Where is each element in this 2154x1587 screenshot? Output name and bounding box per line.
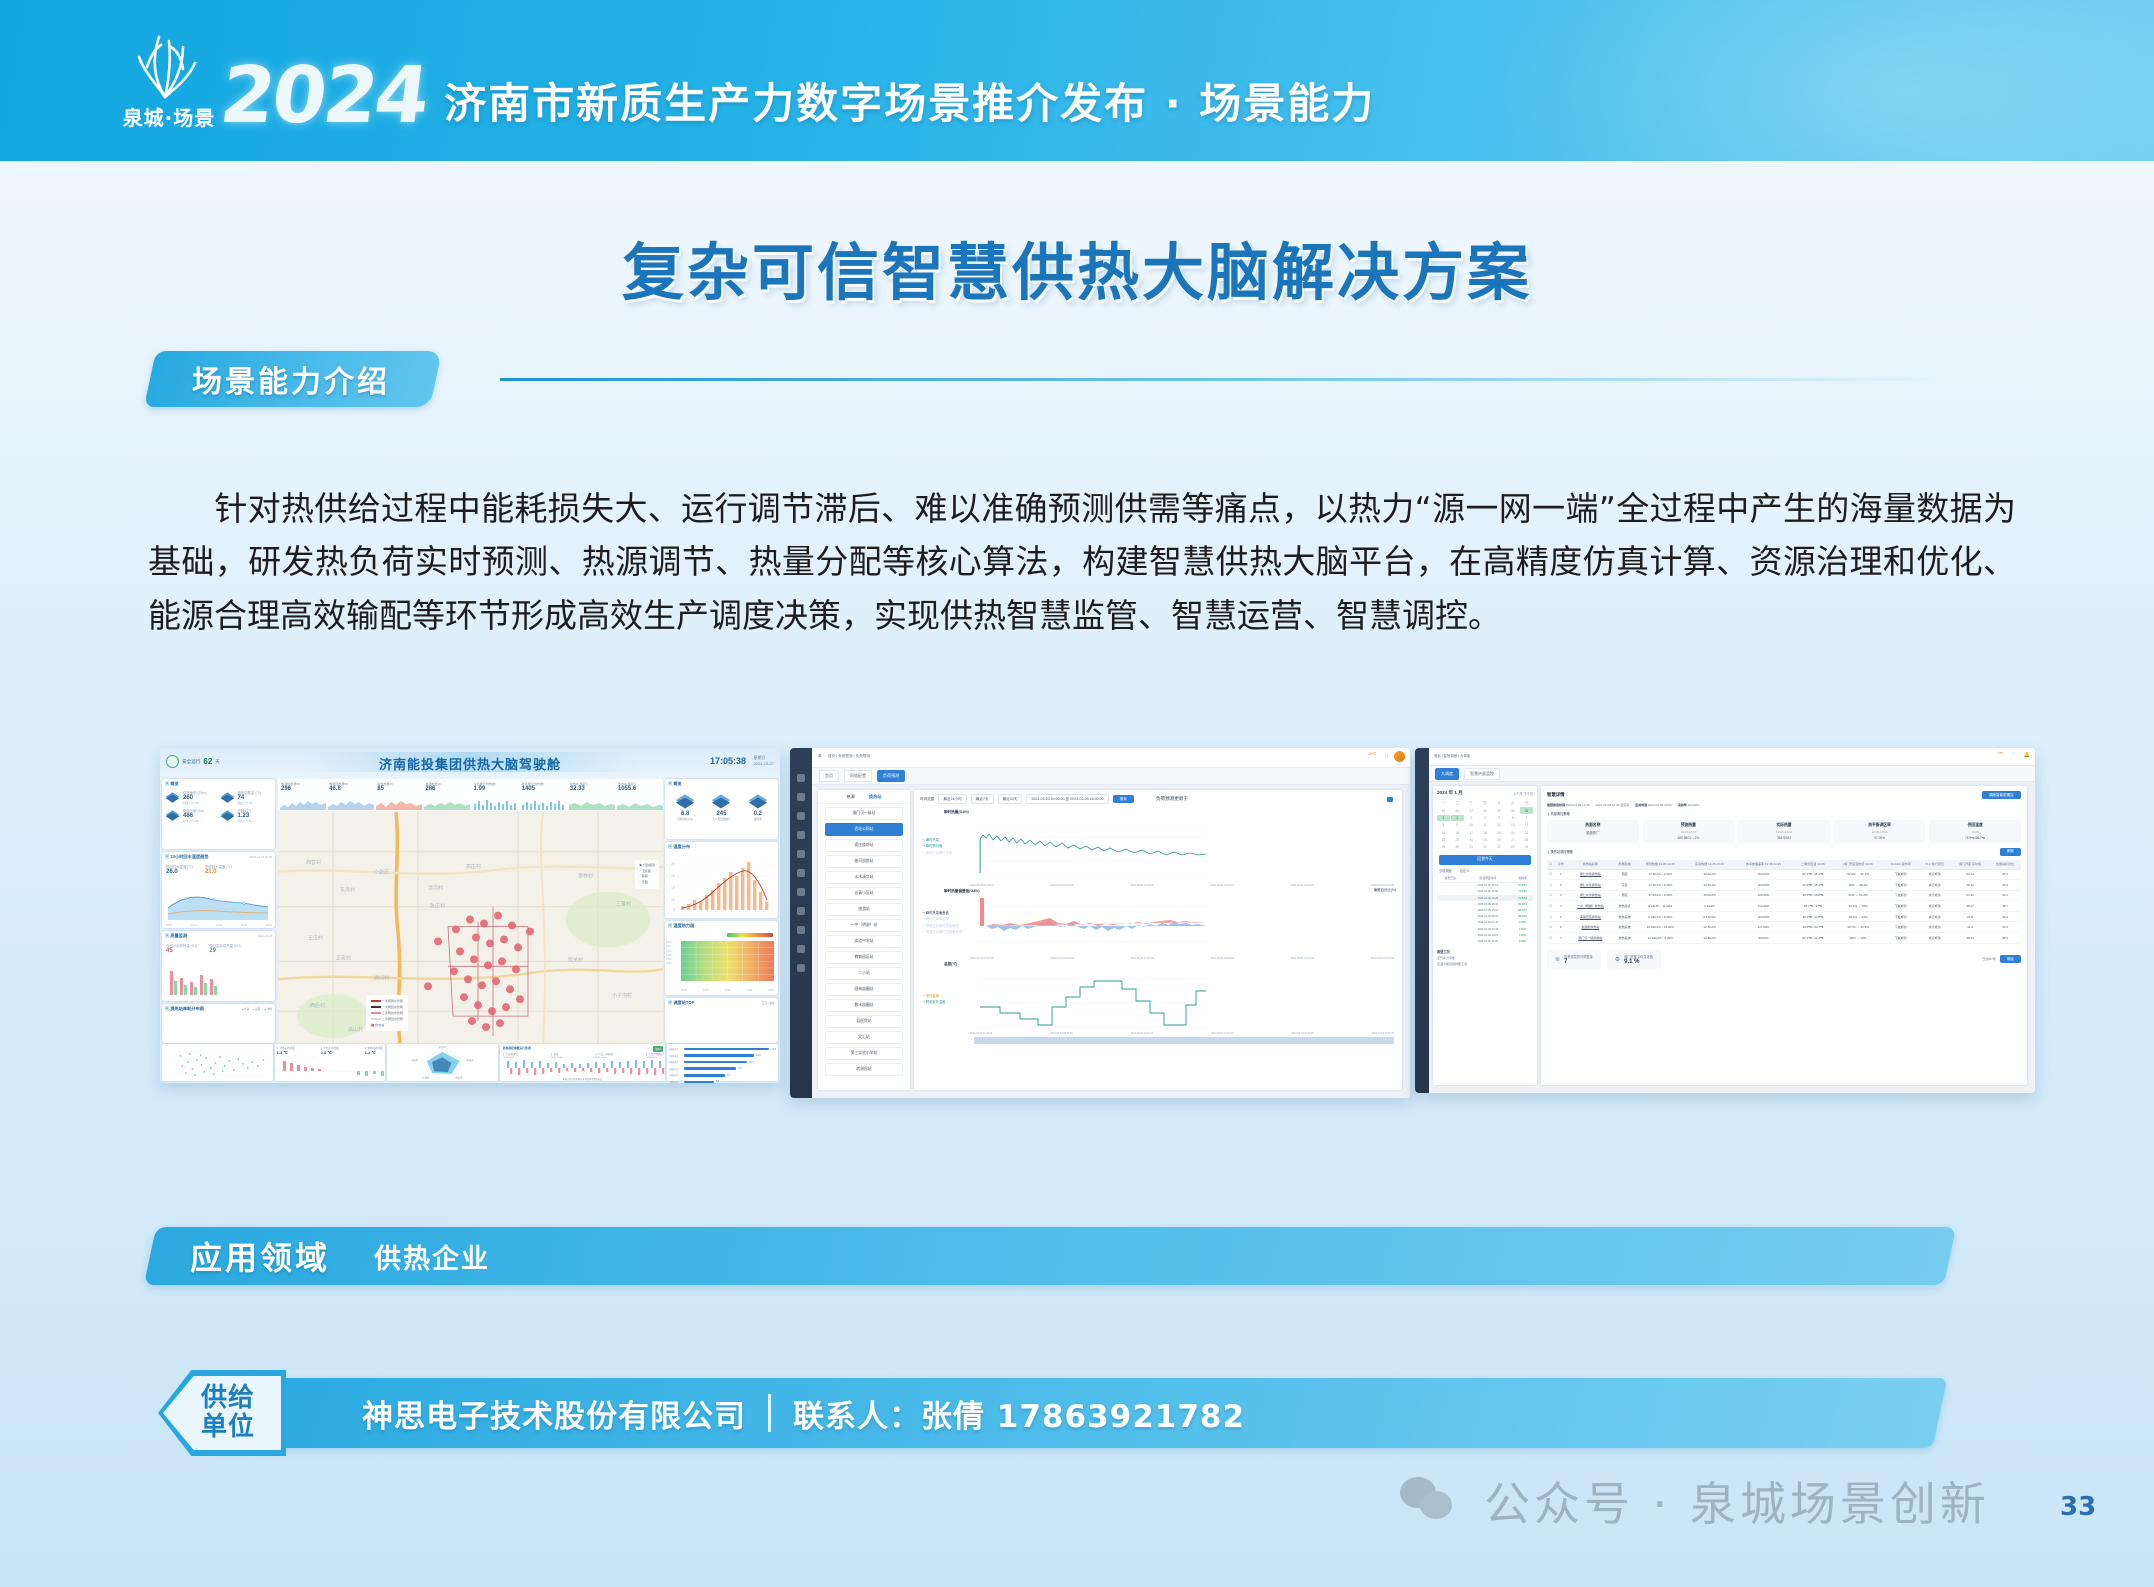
calendar-day[interactable]: 24 [1465, 837, 1478, 843]
svg-text:枣林村: 枣林村 [578, 873, 593, 880]
row-checkbox[interactable]: ☐ [1547, 922, 1554, 933]
fullscreen-icon[interactable]: ⛶ [2012, 752, 2015, 756]
radar-axis-label: 节能率 [411, 1058, 419, 1062]
sidebar-tab-source[interactable]: 热源 [847, 794, 855, 800]
histogram-chart: 252015105 [671, 854, 775, 912]
map-canvas[interactable]: 西营村东风村小张庄 清河村高庄村枣林村 三官村王庄村正安村 通河村张庄村南关村 … [278, 812, 663, 1043]
wechat-icon [1400, 1475, 1462, 1527]
row-checkbox[interactable]: ☐ [1547, 890, 1554, 901]
panel-overview: 概览 供热面积 (万m²) 260 同比上升 12% ↑ 换热站数量 (个) 7… [162, 779, 275, 849]
cell-hbars: 换热站112.0 换热站218.6 换热站318.6 换热站46.5 换热站55… [667, 1044, 778, 1081]
source-card-row: 热源名称 能投热厂 预测热量 13:00-14:00 380.96GJ ↓ 2%… [1547, 820, 2021, 843]
pager[interactable]: ‹ › [1384, 797, 1396, 802]
home-icon[interactable] [797, 774, 805, 782]
calendar-day[interactable]: 02 [1492, 844, 1505, 850]
kpi-value: 32.33 [570, 786, 613, 792]
calendar-day[interactable]: 4 [1479, 815, 1492, 821]
sort-control[interactable]: 正序 / 倒序 [762, 1001, 775, 1005]
sparkline-icon [328, 798, 374, 810]
svg-text:15: 15 [671, 886, 675, 890]
station-sidebar[interactable]: 热源 换热站 顺门汉一级站 西站公网站 索庄楼前站 曲河园前站 水木清华站 长青… [818, 790, 910, 1090]
summary-value: 7 [1564, 959, 1593, 965]
station-item[interactable]: 数水苗圃站 [825, 999, 903, 1012]
tools-title: 典型工况 [1437, 949, 1533, 954]
metric-value: 26.0 [166, 869, 193, 875]
calendar-day[interactable]: 03 [1506, 844, 1519, 850]
confirm-button[interactable]: 确定 [2000, 955, 2021, 963]
calendar-day[interactable]: 14 [1520, 822, 1533, 828]
station-item[interactable]: 教育园区站 [825, 951, 903, 964]
list-icon[interactable] [797, 926, 805, 934]
diamond-icon [220, 790, 235, 805]
calendar-day[interactable]: 15 [1437, 830, 1450, 836]
station-item[interactable]: 实验中学站 [825, 935, 903, 948]
summary-label: 阀门开度平均变化值 [1624, 954, 1653, 959]
screenshot-heating-brain-cockpit[interactable]: 济南能投集团供热大脑驾驶舱 安全运行 62 天 17:05:38 星期日 202… [160, 748, 780, 1083]
metric-item: 今日计划供热量 (GJ) 45 [166, 943, 197, 954]
sparkline-icon [424, 798, 470, 810]
kpi-value: 1405 [522, 786, 565, 792]
apply-field-section: 应用领域 供热企业 [150, 1227, 1950, 1291]
chart3-step-line [970, 969, 1210, 1031]
metric-item: ❙ 中位平均温度2.8 ℃ [321, 1046, 339, 1055]
legend-item: ● 居民 [253, 1007, 260, 1011]
calendar-day[interactable]: 20 [1506, 830, 1519, 836]
kpi-value: 1055.6 [618, 786, 661, 792]
calendar-sidebar[interactable]: 2024 年 1 月 上个月 下个月 一 二 三 四 五 六 日 2526 27… [1433, 786, 1537, 1085]
calendar-day[interactable]: 19 [1492, 830, 1505, 836]
kpi-value: 296 [281, 786, 324, 792]
cockpit-bottom-row: ❙ 室外平均温度1.3 ℃ ❙ 中位平均温度2.8 ℃ ❙ 末端平均温度1.2 … [162, 1044, 778, 1081]
calendar-day-highlight[interactable]: 31 [1520, 807, 1533, 813]
calendar-day[interactable]: 25 [1479, 837, 1492, 843]
calendar-day[interactable]: 11 [1479, 822, 1492, 828]
metric-delta: 同比上升 10% ↑ [183, 819, 204, 823]
panel-title: 概览 [165, 781, 179, 787]
radar-axis-label: 调度率 [455, 1076, 463, 1080]
legend: ▮ 热负荷实际需热量 ▮ 热负荷预测需热量 [500, 1077, 666, 1081]
svg-text:通河村: 通河村 [374, 974, 389, 981]
diamond-icon [748, 792, 768, 810]
list-item[interactable]: ○2024-01-09 13:003.00% [1437, 938, 1533, 944]
topbar: ☰ 首页 / 负荷预测 / 负荷预测 16℃ ⛶ [812, 748, 1410, 768]
hbar-row: 换热站318.6 [669, 1060, 776, 1064]
weekday: 一 [1437, 799, 1450, 806]
metric-item: 供热面积 (万m²) 260 同比上升 12% ↑ [165, 790, 218, 805]
tab-dispatch[interactable]: 大调度 [1435, 768, 1459, 780]
cockpit-clock: 17:05:38 [710, 756, 746, 766]
col-checkbox[interactable]: ☑ [1547, 860, 1554, 870]
x-tick: 00:00 [166, 924, 172, 927]
table-row[interactable]: ☐ 5 美丽宏苑换热站 换热系统 6.24GJ/h ↓ 5.00% 6.57GJ… [1547, 911, 2021, 922]
clock-icon[interactable] [797, 869, 805, 877]
kpi-value: 85 [377, 786, 420, 792]
calendar-day[interactable]: 29 [1492, 807, 1505, 813]
fullscreen-icon[interactable]: ⛶ [1385, 753, 1388, 758]
section-header: 场景能力介绍 [150, 351, 2050, 407]
screenshot-load-forecast-console[interactable]: ☰ 首页 / 负荷预测 / 负荷预测 16℃ ⛶ 首页 网络配置 负荷预测 热源… [790, 748, 1410, 1098]
icon-rail[interactable] [790, 748, 812, 1098]
supplier-section: 供给 单位 神思电子技术股份有限公司 联系人：张倩 17863921782 [150, 1370, 1950, 1456]
radar-axis-label: 合格率 [422, 1076, 430, 1080]
panel-date: 2024-10-27 16:00 [250, 855, 272, 859]
grid-icon[interactable] [797, 850, 805, 858]
alert-icon[interactable] [797, 888, 805, 896]
table-row[interactable]: ☐ 3 顺仁水务换热站 南区 17.6GJ/h ↓ 2.00% 16.0GJ/h… [1547, 890, 2021, 901]
station-item[interactable]: 园林苗圃站 [825, 983, 903, 996]
page-title: 复杂可信智慧供热大脑解决方案 [0, 222, 2154, 312]
station-item[interactable]: 县医院站 [825, 1015, 903, 1028]
legend-item[interactable]: ⊸ 预测日前瞬时热量偏差率 [922, 929, 962, 935]
card-value: 76.9℃/56.7℃ [1931, 836, 2019, 840]
calendar-day[interactable]: 5 [1492, 815, 1505, 821]
search-button[interactable]: 搜索 [1113, 795, 1134, 803]
metric-label: 故障率 [748, 817, 768, 821]
hbar-row: 换热站55.2 [669, 1073, 776, 1077]
dispatch-table[interactable]: ☑ 序号 换热站名称 所属区域 预测热量 13:45-14:45 实际热量 12… [1547, 860, 2021, 944]
avatar[interactable] [1394, 751, 1405, 762]
source-card: 热平衡调区率 12:00-13:00 97.00% [1834, 820, 1926, 843]
legend-item[interactable]: ⊸ 预测室外温度 [922, 999, 945, 1005]
dispatch-detail-main: 智慧详情 调度智能配置区 智慧推送时刻 2024-01-09 13:45 202… [1541, 786, 2027, 1085]
calendar-day[interactable]: 16 [1451, 830, 1464, 836]
col-balance: 热平衡偏差率 12:45-13:45 [1734, 860, 1793, 870]
metric-label: 万人报警数统计 [711, 817, 731, 821]
menu-icon[interactable]: ☰ [818, 753, 822, 758]
station-link[interactable]: 顺仁水务换热站 [1567, 890, 1613, 901]
calendar-day-highlight[interactable]: 2 [1451, 815, 1464, 821]
chart-scrollbar[interactable] [974, 1037, 1394, 1044]
meta-item: 采纳率 100.00% [1678, 803, 1700, 807]
tab-home[interactable]: 首页 [819, 770, 839, 782]
row-checkbox[interactable]: ☐ [1547, 880, 1554, 891]
bell-icon[interactable]: 🔔 [2024, 752, 2030, 758]
metric-delta: 同比上升 12% ↑ [183, 801, 207, 805]
chart-icon[interactable] [797, 793, 805, 801]
supplier-badge-line1: 供给 [189, 1384, 255, 1413]
calendar-day[interactable]: 29 [1437, 844, 1450, 850]
calendar-day[interactable]: 21 [1520, 830, 1533, 836]
layer-option[interactable]: ○ 无图 [639, 880, 655, 886]
summary-box: ≋ 智慧调控的可调整量 7 [1547, 950, 1601, 969]
cockpit-safety-badge: 安全运行 62 天 [166, 755, 220, 768]
calendar-day[interactable]: 31 [1465, 844, 1478, 850]
legend-item[interactable]: ⊸ 预测日前瞬时热量偏差 [922, 923, 962, 929]
card-title: 实际热量 [1740, 823, 1828, 828]
metric-value: 29 [209, 948, 240, 954]
source-card: 预测热量 13:00-14:00 380.96GJ ↓ 2% [1643, 820, 1735, 843]
station-item[interactable]: 长青小区站 [825, 887, 903, 900]
station-item[interactable]: 旅游站 [825, 903, 903, 916]
summary-value: 9.1 % [1624, 959, 1653, 965]
panel-overview-right: 概览 6.8 供热能耗对标 245 万人报警数统计 [665, 779, 778, 839]
range-label: 时间范围 [920, 797, 934, 802]
svg-text:三官村: 三官村 [616, 901, 631, 908]
meta-item: 智慧推送时刻 2024-01-09 13:45 [1547, 803, 1590, 807]
hbar-row: 换热站218.6 [669, 1054, 776, 1058]
calendar-day[interactable]: 28 [1479, 807, 1492, 813]
panel-date: 2024-10-27 [258, 934, 272, 938]
filter-toolbar[interactable]: 时间范围 最近24小时 最近7天 最近30天 2024-03-03 00:00:… [914, 790, 1402, 808]
panel-temp-distribution: 温度分布 [665, 842, 778, 918]
source-section-title: ❙ 热源调控策略 [1547, 811, 2021, 816]
col-perf: 性能指标对比 [1989, 860, 2021, 870]
col-pred: 预测热量 13:45-14:45 [1636, 860, 1685, 870]
chart1-legend[interactable]: ⊸ 瞬时热量 ⊸ 瞬时预测值 ⊸ 预测日前瞬时热量 [922, 837, 952, 856]
kpi-card: 回水水温度℃ 1055.6 [615, 779, 663, 811]
card-sub: 12:00-13:00 [1740, 830, 1828, 834]
cell-temp-bars: ❙ 室外平均温度1.3 ℃ ❙ 中位平均温度2.8 ℃ ❙ 末端平均温度1.2 … [275, 1044, 386, 1081]
weekday: 二 [1451, 799, 1464, 806]
svg-text:10: 10 [671, 898, 675, 902]
today-button[interactable]: 回到今天 [1439, 855, 1531, 865]
card-value: 97.00% [1836, 836, 1924, 840]
sparkline-icon [376, 798, 422, 810]
map-layer-switcher[interactable]: ◉ 行政图层 ○ 卫星图 ○ 路网 ○ 无图 [635, 860, 659, 889]
gear-icon[interactable] [797, 907, 805, 915]
breadcrumb: 首页 / 负荷预测 / 负荷预测 [828, 754, 870, 759]
weekday: 六 [1506, 799, 1519, 806]
calendar-nav[interactable]: 上个月 下个月 [1513, 791, 1533, 796]
cockpit-date-value: 2024-10-27 [754, 761, 774, 767]
svg-text:小子沟村: 小子沟村 [612, 992, 632, 999]
metric-label: 供热能耗对标 [675, 817, 695, 821]
calendar-day[interactable]: 18 [1479, 830, 1492, 836]
calendar-day[interactable]: 26 [1492, 837, 1505, 843]
row-checkbox[interactable]: ☐ [1547, 869, 1554, 880]
station-item[interactable]: 水木清华站 [825, 871, 903, 884]
weekday: 日 [1520, 799, 1533, 806]
icon-rail[interactable] [1415, 748, 1429, 1093]
kpi-card: 今日累计供热量t 1.99 [471, 779, 519, 811]
card-title: 预测热量 [1645, 823, 1733, 828]
svg-text:西后村: 西后村 [310, 1002, 325, 1009]
cockpit-date: 星期日 2024-10-27 [754, 755, 774, 766]
calendar-day[interactable]: 25 [1437, 807, 1450, 813]
tab-bar[interactable]: 首页 网络配置 负荷预测 [812, 768, 1410, 785]
col-station: 换热站名称 [1567, 860, 1613, 870]
table-row[interactable]: ☐ 4 一中（明湖）换热站 换热总表 6.2GJ/h ↓ 11.00% 5.1G… [1547, 901, 2021, 912]
station-link[interactable]: 顺仁水务换热站 [1567, 880, 1613, 891]
diamond-icon [165, 808, 180, 823]
search-icon[interactable] [797, 831, 805, 839]
svg-text:张庄村: 张庄村 [430, 903, 445, 910]
metric-item: 户数 (万) 1.23 同比上升 2% ↑ [220, 808, 273, 823]
calendar-day[interactable]: 30 [1506, 807, 1519, 813]
paragraph-text: 针对热供给过程中能耗损失大、运行调节滞后、难以准确预测供需等痛点，以热力“源一网… [148, 489, 2016, 635]
chart2-deviation [970, 896, 1210, 950]
calendar-header: 2024 年 1 月 上个月 下个月 [1437, 790, 1533, 796]
card-title: 热平衡调区率 [1836, 823, 1924, 828]
station-link[interactable]: 一中（明湖）换热站 [1567, 901, 1613, 912]
tab-network-config[interactable]: 网络配置 [844, 770, 872, 782]
sidebar-tabs[interactable]: 热源 换热站 [818, 790, 910, 804]
cell-scatter [162, 1044, 273, 1081]
calendar-day[interactable]: 23 [1451, 837, 1464, 843]
valve-icon: ⚙ [1615, 956, 1620, 963]
calendar-day-highlight[interactable]: 1 [1437, 815, 1450, 821]
table-header-row: ☑ 序号 换热站名称 所属区域 预测热量 13:45-14:45 实际热量 12… [1547, 860, 2021, 870]
intro-paragraph: 针对热供给过程中能耗损失大、运行调节滞后、难以准确预测供需等痛点，以热力“源一网… [148, 482, 2016, 642]
panel-quality-monitor: 质量监测 2024-10-27 今日计划供热量 (GJ) 45 今日实际供热量 … [162, 931, 275, 1001]
refresh-button[interactable]: 刷新 [2000, 848, 2021, 856]
panel-temp-heatmap: 温度热力图 1018 [665, 921, 778, 995]
station-link[interactable]: 美丽宏苑换热站 [1567, 911, 1613, 922]
tab-heat-monitor[interactable]: 智慧热量监控 [1464, 768, 1500, 780]
apply-field-value: 供热企业 [374, 1237, 490, 1276]
forecast-main: 时间范围 最近24小时 最近7天 最近30天 2024-03-03 00:00:… [914, 790, 1402, 1090]
station-link[interactable]: 顺门汉一级换热站 [1567, 933, 1613, 944]
kpi-value: 46.8 [329, 786, 372, 792]
calendar-day[interactable]: 9 [1451, 822, 1464, 828]
list-item[interactable]: ○2024-01-09 16:1597.85% [1437, 882, 1533, 889]
tool-item[interactable]: 空气水力平衡 [1437, 956, 1533, 960]
calendar-day[interactable]: 28 [1520, 837, 1533, 843]
info-icon[interactable] [797, 964, 805, 972]
dispatch-list-table[interactable]: 是否已读 智慧调度时间 采纳率 ○2024-01-09 16:1597.85% … [1437, 875, 1533, 945]
preset-24h[interactable]: 最近24小时 [938, 794, 966, 804]
chart3-legend[interactable]: ⊸ 室外温度 ⊸ 预测室外温度 [922, 993, 945, 1006]
station-item[interactable]: 二小站 [825, 967, 903, 980]
detail-title: 智慧详情 [1547, 792, 1565, 798]
calendar-day[interactable]: 3 [1465, 815, 1478, 821]
station-item[interactable]: 一中（明湖）站 [825, 919, 903, 932]
summary-row: ≋ 智慧调控的可调整量 7 ⚙ 阀门开度平均变化值 9.1 % 已选中7项 确定 [1547, 950, 2021, 969]
date-range-input[interactable]: 2024-03-03 00:00:00 至 2024-03-04 18:00:0… [1026, 794, 1108, 804]
user-icon[interactable] [797, 945, 805, 953]
station-link[interactable]: 顺仁水务换热站 [1567, 869, 1613, 880]
screenshot-gallery: 济南能投集团供热大脑驾驶舱 安全运行 62 天 17:05:38 星期日 202… [150, 748, 2060, 1118]
station-link[interactable]: 金座街换热站 [1567, 922, 1613, 933]
panel-title: 24小时回水温度趋势 [165, 854, 209, 860]
cockpit-map[interactable]: 西营村东风村小张庄 清河村高庄村枣林村 三官村王庄村正安村 通河村张庄村南关村 … [278, 812, 663, 1043]
list-tab-all[interactable]: 全部调度 [1439, 868, 1452, 873]
svg-text:高山村: 高山村 [348, 1026, 363, 1033]
calendar-day[interactable]: 27 [1506, 837, 1519, 843]
calendar-day[interactable]: 01 [1479, 844, 1492, 850]
export-button[interactable]: 调度智能配置区 [1982, 791, 2021, 799]
legend-item: ▮ 热负荷预测需热量 [583, 1079, 602, 1081]
table-row[interactable]: ☐ 6 金座街换热站 换热系统 16.92GJ/h ↓ 16.00% 12.8G… [1547, 922, 2021, 933]
heatmap-y-axis: 1018 1017 1016 1015 1014 1013 [666, 941, 671, 967]
station-item[interactable]: 索庄楼前站 [825, 839, 903, 852]
book-icon[interactable] [797, 812, 805, 820]
calendar-day[interactable]: 17 [1465, 830, 1478, 836]
apply-field-label: 应用领域 [190, 1233, 330, 1279]
list-tab-custom[interactable]: 自定义 [1460, 868, 1470, 873]
calendar-day[interactable]: 30 [1451, 844, 1464, 850]
calendar-day[interactable]: 27 [1465, 807, 1478, 813]
kpi-card: 热网回热量t/h 46.8 [326, 779, 374, 811]
metric-item: 热网回水温度 (℃) 21.0 [205, 864, 232, 875]
svg-text:5: 5 [673, 908, 675, 912]
supplier-company: 神思电子技术股份有限公司 [362, 1391, 746, 1436]
heatmap-chart [681, 941, 774, 981]
station-item-selected[interactable]: 西站公网站 [825, 823, 903, 836]
preset-30d[interactable]: 最近30天 [998, 794, 1023, 804]
supplier-badge: 供给 单位 [150, 1370, 300, 1456]
tab-bar[interactable]: 大调度 智慧热量监控 [1429, 766, 2035, 782]
legend-item[interactable]: ⊸ 预测日前瞬时热量 [922, 850, 952, 856]
screenshot-dispatch-detail-console[interactable]: 首页 / 智慧调度 / 大调度 -1℃ ⛶ 🔔 大调度 智慧热量监控 2024 … [1415, 748, 2035, 1093]
cockpit-left-panels: 概览 供热面积 (万m²) 260 同比上升 12% ↑ 换热站数量 (个) 7… [162, 779, 275, 1043]
col-temp: 二网供回温 13:45 [1793, 860, 1833, 870]
table-row[interactable]: ☐ 2 顺仁水务换热站 东区 17.6GJ/h ↓ 2.00% 16.5GJ/h… [1547, 880, 2021, 891]
topbar: 首页 / 智慧调度 / 大调度 -1℃ ⛶ 🔔 [1429, 748, 2035, 766]
calendar-day[interactable]: 26 [1451, 807, 1464, 813]
kpi-card: 总供热量t/h 85 [374, 779, 422, 811]
calendar-day[interactable]: 6 [1506, 815, 1519, 821]
cockpit-header: 济南能投集团供热大脑驾驶舱 安全运行 62 天 17:05:38 星期日 202… [160, 748, 780, 778]
row-checkbox[interactable]: ☐ [1547, 933, 1554, 944]
row-checkbox[interactable]: ☐ [1547, 911, 1554, 922]
svg-text:20: 20 [671, 874, 675, 878]
row-checkbox[interactable]: ☐ [1547, 901, 1554, 912]
station-item[interactable]: 曲河园前站 [825, 855, 903, 868]
hbar-row: 换热站46.5 [669, 1067, 776, 1071]
panel-title: 概览 [668, 781, 682, 787]
panel-title: 换热站单耗分布图 [165, 1006, 204, 1012]
section-badge-label: 场景能力介绍 [192, 357, 390, 401]
meta-item: 2024-01-09 14:45 至区间 [1596, 803, 1630, 807]
calendar-grid[interactable]: 一 二 三 四 五 六 日 2526 2728 2930 31 1 2 34 5… [1437, 799, 1533, 851]
chart2-right-label: 偏差百分比(%) [1374, 887, 1396, 894]
col-valve: 阀门开度控制值 13:45 [1833, 860, 1883, 870]
summary-label: 智慧调控的可调整量 [1564, 954, 1593, 959]
metric-delta: 同比上升 2% ↑ [238, 819, 255, 823]
metric-delta: 同比上升 2% ↑ [238, 801, 262, 805]
calendar-day[interactable]: 04 [1520, 844, 1533, 850]
diamond-icon [675, 792, 695, 810]
station-item[interactable]: 第三实验小学站 [825, 1047, 903, 1060]
card-value: 380.96GJ ↓ 2% [1645, 836, 1733, 840]
tab-load-forecast[interactable]: 负荷预测 [877, 770, 905, 782]
tool-item[interactable]: 高温平衡自动判断工况 [1437, 962, 1533, 966]
chart1-x-axis: 2024-03-03 01:00:00 2024-03-03 08:25:00 … [970, 884, 1394, 887]
calendar-day[interactable]: 13 [1506, 822, 1519, 828]
metric-item: ❙ 湿度11-02 12:00 [551, 1052, 563, 1059]
legend-item: ● 学校 [265, 1007, 272, 1011]
card-title: 热源名称 [1549, 823, 1637, 828]
station-item[interactable]: 顺门汉一级站 [825, 807, 903, 820]
calendar-day[interactable]: 8 [1437, 822, 1450, 828]
diamond-icon [220, 808, 235, 823]
preset-7d[interactable]: 最近7天 [971, 794, 994, 804]
station-item[interactable]: 文汇站 [825, 1031, 903, 1044]
svg-text:25: 25 [671, 862, 675, 866]
chart2-legend[interactable]: ⊸ 瞬时热量偏差值 ⊸ 瞬时热量偏差率 ⊸ 预测日前瞬时热量偏差 ⊸ 预测日前瞬… [922, 910, 962, 935]
calendar-day[interactable]: 22 [1437, 837, 1450, 843]
source-card: 实际热量 12:00-13:00 384.99GJ [1738, 820, 1830, 843]
sidebar-tab-station[interactable]: 换热站 [869, 794, 882, 800]
table-row[interactable]: ☐ 7 顺门汉一级换热站 换热系统 11.18GJ/h ↑ 5.00% 10.8… [1547, 933, 2021, 944]
section-badge: 场景能力介绍 [144, 351, 442, 407]
metric-value: 21.0 [205, 869, 232, 875]
svg-text:正安村: 正安村 [336, 954, 351, 961]
calendar-day[interactable]: 7 [1520, 815, 1533, 821]
station-item[interactable]: 转周园站 [825, 1063, 903, 1076]
list-tabs[interactable]: 全部调度 自定义 [1437, 868, 1533, 875]
metric-item: 0.2 故障率 [748, 792, 768, 821]
table-row[interactable]: ☐ 1 顺仁水务换热站 西区 17.6GJ/h ↓ 2.00% 16.5GJ/h… [1547, 869, 2021, 880]
calendar-day[interactable]: 12 [1492, 822, 1505, 828]
cockpit-title: 济南能投集团供热大脑驾驶舱 [160, 754, 780, 773]
calendar-day[interactable]: 10 [1465, 822, 1478, 828]
kpi-card: 本年累计供热量t 1405 [519, 779, 567, 811]
diamond-icon [711, 792, 731, 810]
sparkline-icon [569, 798, 615, 810]
cell-radar: 热效率 热损失 调度率 合格率 节能率 [387, 1044, 498, 1081]
